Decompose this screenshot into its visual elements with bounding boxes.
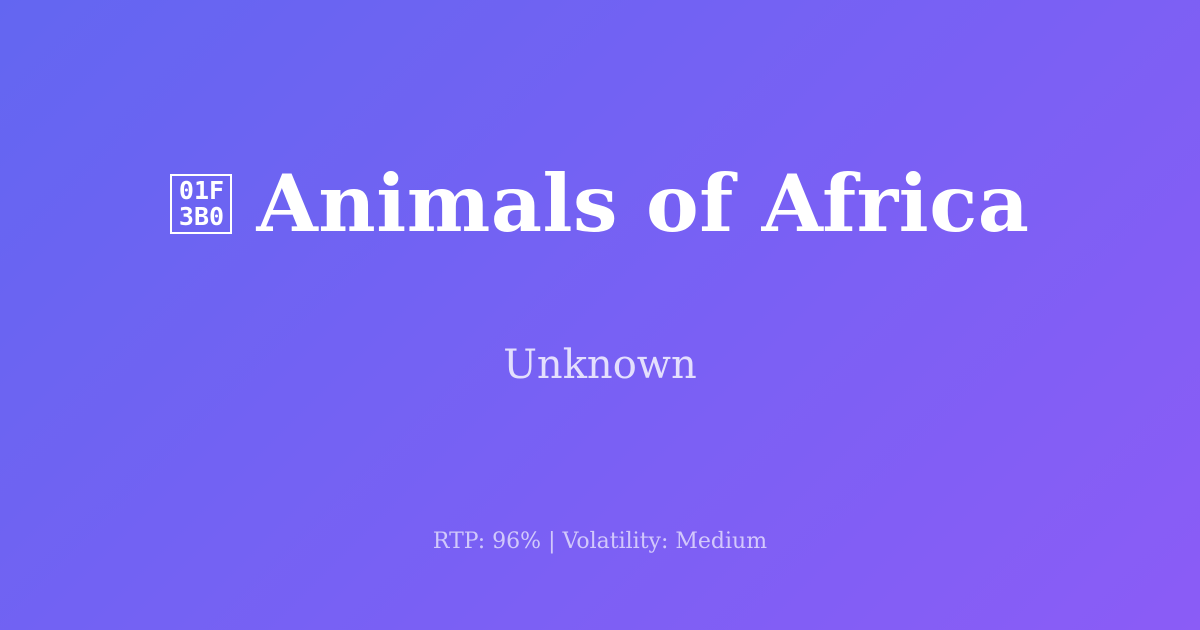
- slot-machine-icon: 01F 3B0: [170, 174, 232, 234]
- provider-subtitle: Unknown: [503, 341, 697, 389]
- card-hero: 01F 3B0 Animals of Africa Unknown: [0, 0, 1200, 500]
- title-row: 01F 3B0 Animals of Africa: [60, 111, 1140, 297]
- tofu-codepoint-top: 01F: [179, 178, 224, 204]
- game-stats-line: RTP: 96% | Volatility: Medium: [0, 528, 1200, 557]
- page-title: Animals of Africa: [256, 164, 1029, 245]
- tofu-codepoint-bottom: 3B0: [179, 204, 224, 230]
- game-preview-card: 01F 3B0 Animals of Africa Unknown RTP: 9…: [0, 0, 1200, 630]
